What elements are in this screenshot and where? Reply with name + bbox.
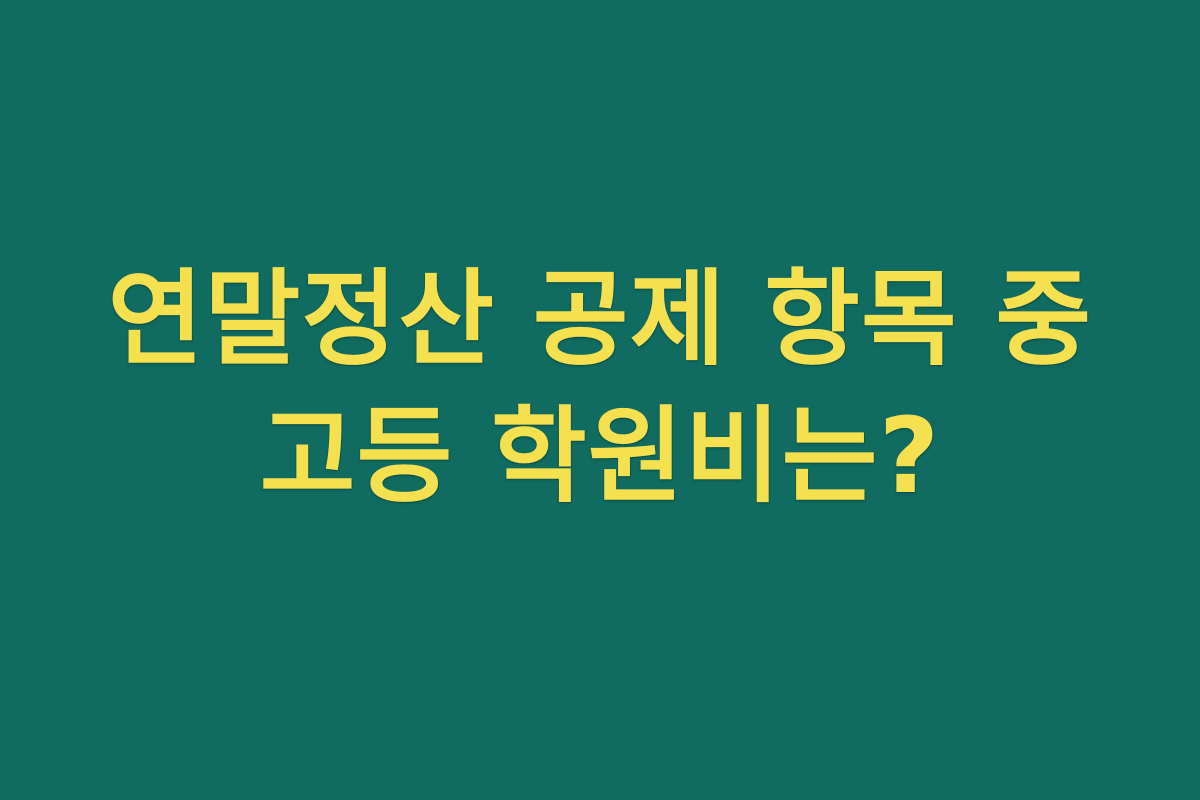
headline-block: 연말정산 공제 항목 중 고등 학원비는? [50, 252, 1150, 524]
headline-line-2: 고등 학원비는? [260, 389, 941, 524]
thumbnail-card: 연말정산 공제 항목 중 고등 학원비는? [0, 0, 1200, 800]
headline-line-1: 연말정산 공제 항목 중 [108, 252, 1093, 387]
